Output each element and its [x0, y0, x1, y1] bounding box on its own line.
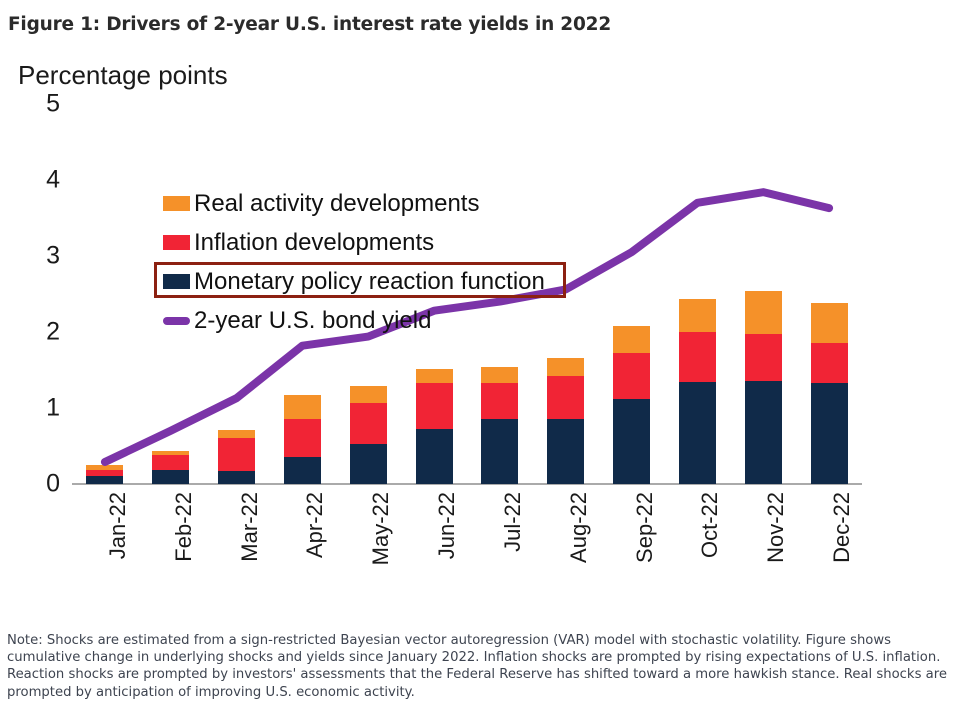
chart-legend: Real activity developmentsInflation deve…	[163, 184, 583, 340]
x-tick-label: Sep-22	[613, 488, 650, 608]
x-tick-label-text: Jan-22	[105, 492, 131, 559]
x-tick-label: Jul-22	[481, 488, 518, 608]
x-tick-label-text: Jul-22	[500, 492, 526, 552]
y-tick-label: 1	[20, 396, 60, 421]
x-tick-label-text: Nov-22	[763, 492, 789, 563]
x-tick-label: Nov-22	[745, 488, 782, 608]
legend-item[interactable]: Real activity developments	[163, 184, 583, 223]
legend-square-icon	[163, 196, 190, 211]
y-tick-label: 5	[20, 92, 60, 117]
x-tick-label-text: Dec-22	[829, 492, 855, 563]
x-tick-label: Apr-22	[284, 488, 321, 608]
legend-item-label: 2-year U.S. bond yield	[194, 307, 431, 335]
legend-item[interactable]: 2-year U.S. bond yield	[163, 301, 583, 340]
x-tick-label: Jun-22	[416, 488, 453, 608]
legend-item-label: Inflation developments	[194, 229, 434, 257]
x-tick-label: Aug-22	[547, 488, 584, 608]
x-tick-label-text: Feb-22	[171, 492, 197, 562]
legend-item[interactable]: Inflation developments	[163, 223, 583, 262]
figure-title: Figure 1: Drivers of 2-year U.S. interes…	[8, 14, 611, 35]
y-tick-label: 3	[20, 244, 60, 269]
figure-footnote: Note: Shocks are estimated from a sign-r…	[7, 632, 953, 701]
x-tick-label: Mar-22	[218, 488, 255, 608]
x-tick-label: Dec-22	[811, 488, 848, 608]
x-tick-label-text: Mar-22	[237, 492, 263, 562]
x-tick-label-text: Jun-22	[434, 492, 460, 559]
legend-square-icon	[163, 235, 190, 250]
chart-area: Percentage points 012345 Jan-22Feb-22Mar…	[0, 52, 960, 612]
y-tick-label: 4	[20, 168, 60, 193]
x-tick-label: Jan-22	[86, 488, 123, 608]
x-tick-label-text: Oct-22	[697, 492, 723, 558]
x-tick-label-text: Aug-22	[566, 492, 592, 563]
x-tick-label: Feb-22	[152, 488, 189, 608]
legend-line-icon	[163, 317, 190, 325]
y-tick-label: 2	[20, 320, 60, 345]
x-axis-tick-labels: Jan-22Feb-22Mar-22Apr-22May-22Jun-22Jul-…	[72, 488, 862, 612]
y-axis-tick-labels: 012345	[16, 52, 60, 612]
y-tick-label: 0	[20, 472, 60, 497]
legend-item[interactable]: Monetary policy reaction function	[163, 262, 583, 301]
legend-item-label: Monetary policy reaction function	[194, 268, 545, 296]
x-tick-label-text: Sep-22	[632, 492, 658, 563]
x-tick-label: Oct-22	[679, 488, 716, 608]
x-tick-label-text: May-22	[368, 492, 394, 565]
x-tick-label: May-22	[350, 488, 387, 608]
legend-square-icon	[163, 274, 190, 289]
x-tick-label-text: Apr-22	[302, 492, 328, 558]
legend-item-label: Real activity developments	[194, 190, 479, 218]
